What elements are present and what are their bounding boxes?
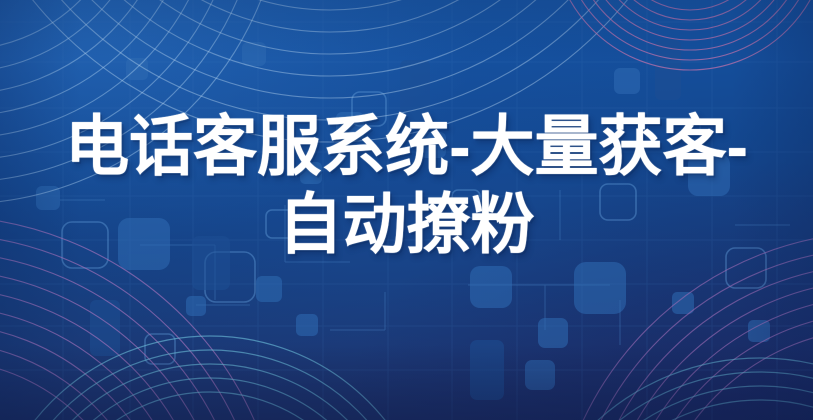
title-line-2: 自动撩粉 <box>12 190 801 260</box>
banner-title: 电话客服系统-大量获客- 自动撩粉 <box>0 112 813 260</box>
title-line-1: 电话客服系统-大量获客- <box>12 112 801 182</box>
promo-banner: 电话客服系统-大量获客- 自动撩粉 <box>0 0 813 420</box>
